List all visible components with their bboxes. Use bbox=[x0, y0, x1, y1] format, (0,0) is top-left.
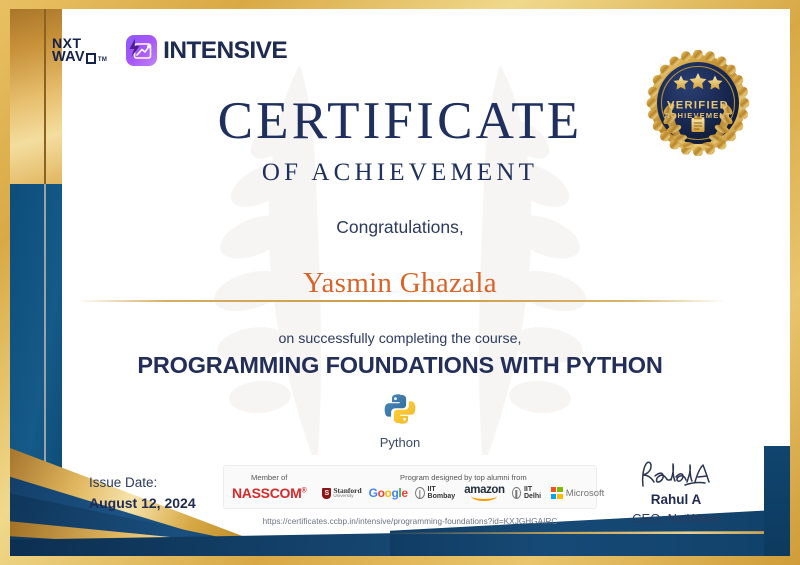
amazon-label: amazon bbox=[464, 485, 504, 497]
member-group: Member of NASSCOM® bbox=[224, 466, 314, 508]
issue-date-block: Issue Date: August 12, 2024 bbox=[89, 475, 196, 511]
verification-url[interactable]: https://certificates.ccbp.in/intensive/p… bbox=[223, 517, 597, 526]
skill-block: Python bbox=[10, 392, 790, 450]
signature-block: Rahul A CEO, NxtWave bbox=[606, 458, 746, 526]
certificate: NXT WAV TM INTENSIVE bbox=[0, 0, 800, 565]
page-title: CERTIFICATE bbox=[10, 95, 790, 148]
nxtwave-logo-wave-text: WAV bbox=[52, 50, 85, 65]
nxtwave-logo: NXT WAV TM bbox=[52, 36, 107, 65]
alumni-title: Program designed by top alumni from bbox=[400, 473, 527, 482]
python-logo-icon bbox=[383, 413, 417, 430]
course-name: PROGRAMMING FOUNDATIONS WITH PYTHON bbox=[10, 352, 790, 379]
iit-delhi-seal-icon: IIT Delhi bbox=[512, 486, 544, 500]
amazon-wordmark-icon: amazon bbox=[464, 485, 504, 502]
nxtwave-logo-trademark: TM bbox=[98, 57, 107, 63]
nasscom-logo: NASSCOM® bbox=[232, 485, 306, 501]
name-divider bbox=[76, 300, 726, 302]
nxtwave-logo-e-glyph bbox=[86, 53, 96, 64]
certificate-page: NXT WAV TM INTENSIVE bbox=[10, 9, 790, 556]
nxtwave-logo-top: NXT bbox=[52, 36, 107, 50]
certificate-title-block: CERTIFICATE OF ACHIEVEMENT bbox=[10, 95, 790, 187]
right-blue-band bbox=[764, 446, 790, 556]
partners-band: Member of NASSCOM® Program designed by t… bbox=[223, 465, 597, 509]
brand-logo-row: NXT WAV TM INTENSIVE bbox=[52, 35, 287, 66]
page-subtitle: OF ACHIEVEMENT bbox=[10, 159, 790, 187]
signatory-role: CEO, NxtWave bbox=[606, 511, 746, 526]
stanford-shield-icon: Stanford University bbox=[322, 487, 361, 499]
microsoft-label: Microsoft bbox=[566, 488, 605, 499]
course-lead-text: on successfully completing the course, bbox=[10, 331, 790, 347]
alumni-group: Program designed by top alumni from Stan… bbox=[314, 466, 612, 508]
iit-delhi-label: IIT Delhi bbox=[524, 486, 544, 500]
member-title: Member of bbox=[251, 473, 287, 482]
signature-mark bbox=[606, 458, 746, 491]
intensive-logo: INTENSIVE bbox=[126, 35, 287, 66]
signatory-name: Rahul A bbox=[606, 492, 746, 507]
iit-bombay-seal-icon: IIT Bombay bbox=[415, 486, 458, 500]
iit-bombay-label: IIT Bombay bbox=[428, 486, 458, 500]
issue-date-label: Issue Date: bbox=[89, 475, 196, 490]
stanford-line2: University bbox=[333, 494, 361, 499]
skill-label: Python bbox=[10, 435, 790, 450]
lightning-chart-icon bbox=[126, 35, 157, 66]
recipient-name: Yasmin Ghazala bbox=[10, 267, 790, 300]
microsoft-logo-icon: Microsoft bbox=[551, 487, 605, 499]
congratulations-text: Congratulations, bbox=[10, 217, 790, 238]
intensive-logo-text: INTENSIVE bbox=[163, 37, 287, 65]
nxtwave-logo-bottom: WAV TM bbox=[52, 50, 107, 65]
issue-date-value: August 12, 2024 bbox=[89, 495, 196, 511]
google-wordmark-icon: Google bbox=[369, 486, 408, 500]
